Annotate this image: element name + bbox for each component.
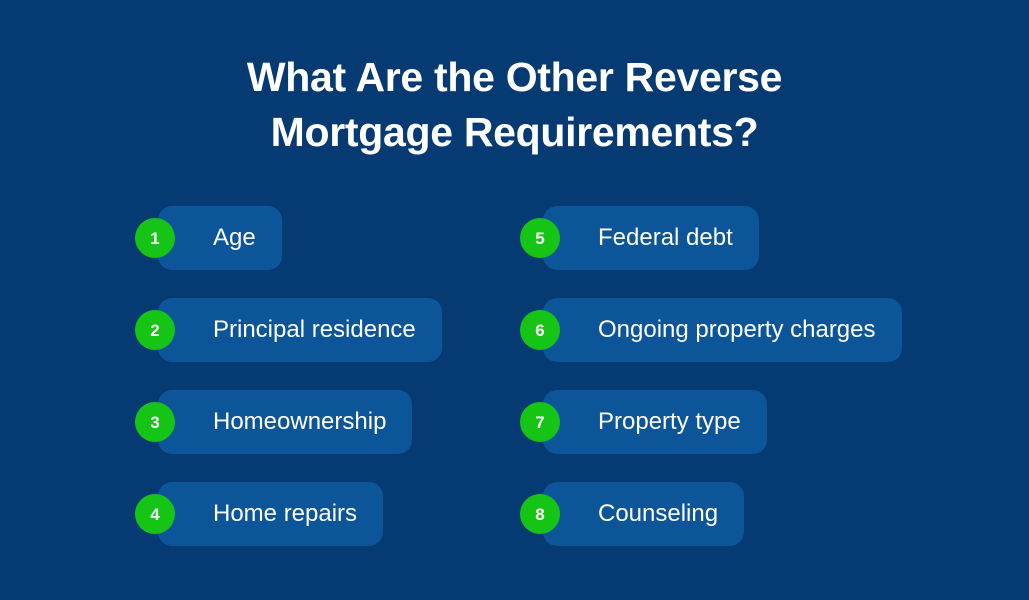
requirement-label: Ongoing property charges	[598, 298, 876, 362]
requirement-label: Homeownership	[213, 390, 386, 454]
requirement-pill: Counseling	[543, 482, 744, 546]
requirement-pill: Age	[158, 206, 282, 270]
step-number: 1	[150, 230, 159, 247]
step-number-badge: 6	[520, 310, 560, 350]
step-number: 7	[535, 414, 544, 431]
step-number: 6	[535, 322, 544, 339]
step-number: 3	[150, 414, 159, 431]
requirements-list: Age 1 Principal residence 2 Homeownershi…	[0, 0, 1029, 600]
requirement-label: Home repairs	[213, 482, 357, 546]
step-number-badge: 1	[135, 218, 175, 258]
requirement-pill: Ongoing property charges	[543, 298, 902, 362]
step-number: 5	[535, 230, 544, 247]
requirement-pill: Federal debt	[543, 206, 759, 270]
step-number: 4	[150, 506, 159, 523]
step-number-badge: 8	[520, 494, 560, 534]
infographic-slide: What Are the Other Reverse Mortgage Requ…	[0, 0, 1029, 600]
requirement-pill: Homeownership	[158, 390, 412, 454]
requirement-label: Age	[213, 206, 256, 270]
requirement-label: Federal debt	[598, 206, 733, 270]
step-number-badge: 7	[520, 402, 560, 442]
step-number-badge: 3	[135, 402, 175, 442]
requirement-label: Counseling	[598, 482, 718, 546]
requirement-pill: Principal residence	[158, 298, 442, 362]
step-number-badge: 4	[135, 494, 175, 534]
requirement-label: Principal residence	[213, 298, 416, 362]
step-number-badge: 2	[135, 310, 175, 350]
requirement-pill: Property type	[543, 390, 767, 454]
requirement-pill: Home repairs	[158, 482, 383, 546]
step-number: 8	[535, 506, 544, 523]
step-number-badge: 5	[520, 218, 560, 258]
requirement-label: Property type	[598, 390, 741, 454]
step-number: 2	[150, 322, 159, 339]
